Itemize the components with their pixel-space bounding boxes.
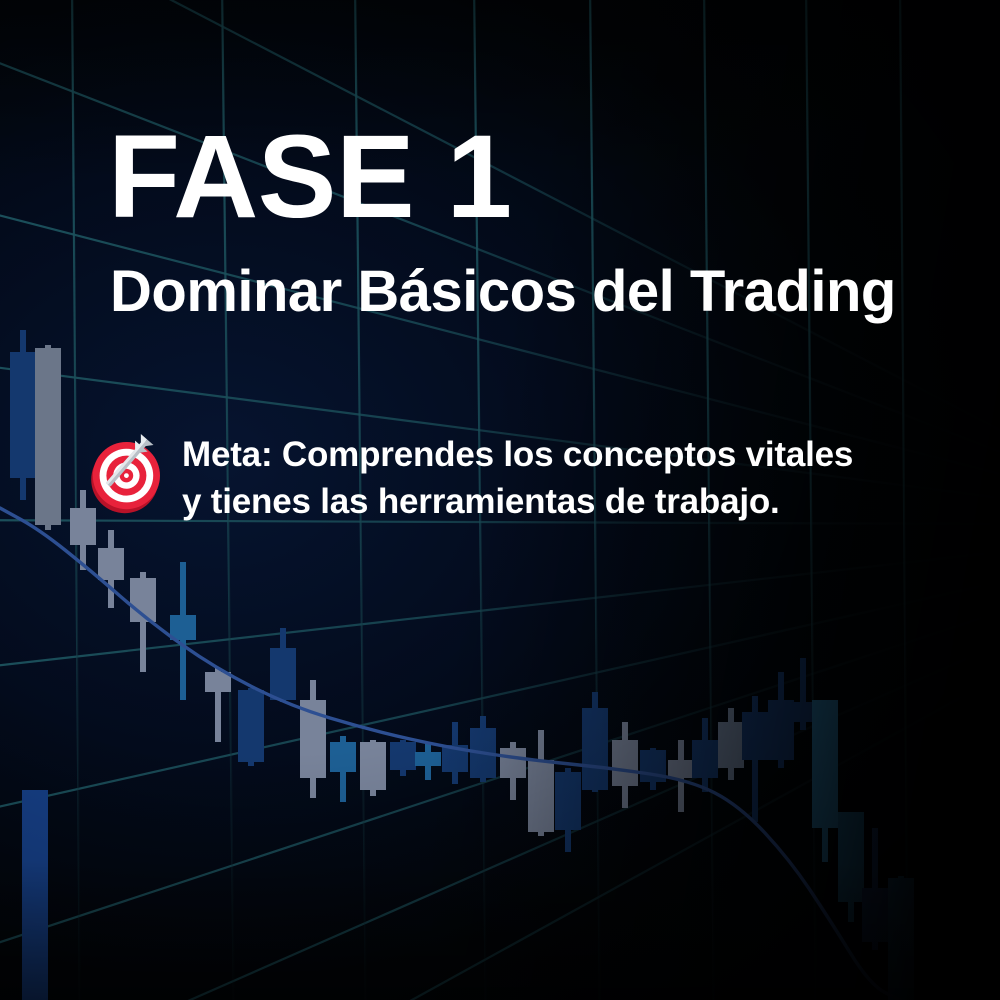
page-title: FASE 1 (108, 118, 512, 236)
goal-row: Meta: Comprendes los conceptos vitales y… (88, 428, 853, 525)
goal-text: Meta: Comprendes los conceptos vitales y… (182, 428, 853, 525)
target-dartboard-icon (88, 430, 168, 514)
page-subtitle: Dominar Básicos del Trading (110, 262, 896, 323)
poster-canvas: FASE 1 Dominar Básicos del Trading (0, 0, 1000, 1000)
poster-content: FASE 1 Dominar Básicos del Trading (0, 0, 1000, 1000)
